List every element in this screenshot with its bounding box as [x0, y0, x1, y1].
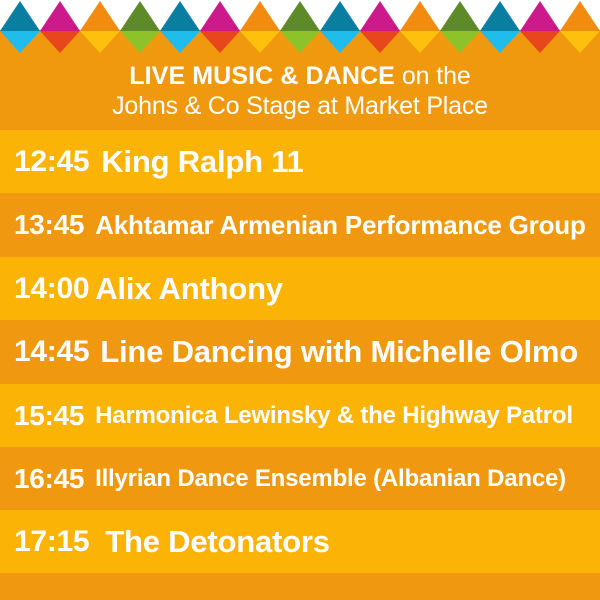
bunting-diamond-bottom [520, 31, 560, 53]
bunting-diamond [560, 0, 600, 54]
bunting-diamond-bottom [440, 31, 480, 53]
bunting-diamond-bottom [400, 31, 440, 53]
bunting-diamond [80, 0, 120, 54]
schedule-row[interactable]: 15:45Harmonica Lewinsky & the Highway Pa… [0, 384, 600, 447]
bunting-diamond-top [440, 1, 480, 31]
schedule-row-title: Alix Anthony [95, 271, 283, 307]
event-schedule-poster: LIVE MUSIC & DANCE on the Johns & Co Sta… [0, 0, 600, 600]
schedule-row-title: Akhtamar Armenian Performance Group [95, 210, 586, 241]
schedule-row-title: Illyrian Dance Ensemble (Albanian Dance) [95, 465, 566, 493]
poster-header: LIVE MUSIC & DANCE on the Johns & Co Sta… [0, 54, 600, 130]
bunting-diamond [120, 0, 160, 54]
bunting-diamond [0, 0, 40, 54]
schedule-row-time: 17:15 [14, 525, 89, 559]
bunting-diamond-top [560, 1, 600, 31]
bunting-diamond-bottom [80, 31, 120, 53]
bunting-diamond [200, 0, 240, 54]
bunting-diamond-bottom [0, 31, 40, 53]
schedule-row-title: Harmonica Lewinsky & the Highway Patrol [95, 402, 573, 430]
schedule-list: 12:45King Ralph 1113:45Akhtamar Armenian… [0, 130, 600, 573]
bunting-diamond-top [200, 1, 240, 31]
bunting-diamond [240, 0, 280, 54]
bunting-diamond-bottom [40, 31, 80, 53]
footer-strip [0, 573, 600, 599]
bunting-diamond-bottom [360, 31, 400, 53]
schedule-row-time: 15:45 [14, 400, 84, 432]
bunting-diamond-top [400, 1, 440, 31]
schedule-row[interactable]: 16:45Illyrian Dance Ensemble (Albanian D… [0, 447, 600, 510]
schedule-row[interactable]: 14:00Alix Anthony [0, 257, 600, 320]
bunting-diamond [360, 0, 400, 54]
bunting-diamond [440, 0, 480, 54]
schedule-row[interactable]: 14:45Line Dancing with Michelle Olmo [0, 320, 600, 384]
bunting-diamond-top [240, 1, 280, 31]
schedule-row-time: 13:45 [14, 209, 84, 241]
festival-bunting-banner [0, 0, 600, 54]
bunting-diamond-top [0, 1, 40, 31]
bunting-diamond-bottom [160, 31, 200, 53]
bunting-diamond-bottom [280, 31, 320, 53]
schedule-row[interactable]: 13:45Akhtamar Armenian Performance Group [0, 193, 600, 257]
bunting-diamond [160, 0, 200, 54]
schedule-row-title: Line Dancing with Michelle Olmo [100, 334, 578, 370]
bunting-diamond [480, 0, 520, 54]
bunting-diamond [40, 0, 80, 54]
bunting-diamond-top [480, 1, 520, 31]
schedule-row-title: The Detonators [105, 524, 330, 560]
bunting-diamond [520, 0, 560, 54]
schedule-row-time: 14:00 [14, 272, 89, 306]
header-title-line-1: LIVE MUSIC & DANCE on the [18, 62, 582, 92]
schedule-row-time: 16:45 [14, 463, 84, 495]
bunting-diamond-top [320, 1, 360, 31]
header-title-line-2: Johns & Co Stage at Market Place [18, 92, 582, 122]
header-title-emphasis: LIVE MUSIC & DANCE [129, 62, 395, 90]
bunting-diamond [400, 0, 440, 54]
bunting-diamond-top [120, 1, 160, 31]
schedule-row[interactable]: 12:45King Ralph 11 [0, 130, 600, 193]
schedule-row-time: 14:45 [14, 335, 89, 369]
bunting-diamond-bottom [240, 31, 280, 53]
bunting-diamond-bottom [120, 31, 160, 53]
schedule-row-time: 12:45 [14, 145, 89, 179]
bunting-diamond-row [0, 0, 600, 54]
bunting-diamond-top [360, 1, 400, 31]
bunting-diamond-top [80, 1, 120, 31]
header-title-suffix: on the [395, 62, 471, 90]
bunting-diamond-bottom [480, 31, 520, 53]
bunting-diamond-top [280, 1, 320, 31]
bunting-diamond-top [40, 1, 80, 31]
bunting-diamond-top [520, 1, 560, 31]
bunting-diamond-bottom [200, 31, 240, 53]
bunting-diamond-bottom [320, 31, 360, 53]
bunting-diamond-bottom [560, 31, 600, 53]
bunting-diamond-top [160, 1, 200, 31]
bunting-diamond [320, 0, 360, 54]
schedule-row-title: King Ralph 11 [101, 144, 303, 180]
schedule-row[interactable]: 17:15The Detonators [0, 510, 600, 573]
bunting-diamond [280, 0, 320, 54]
